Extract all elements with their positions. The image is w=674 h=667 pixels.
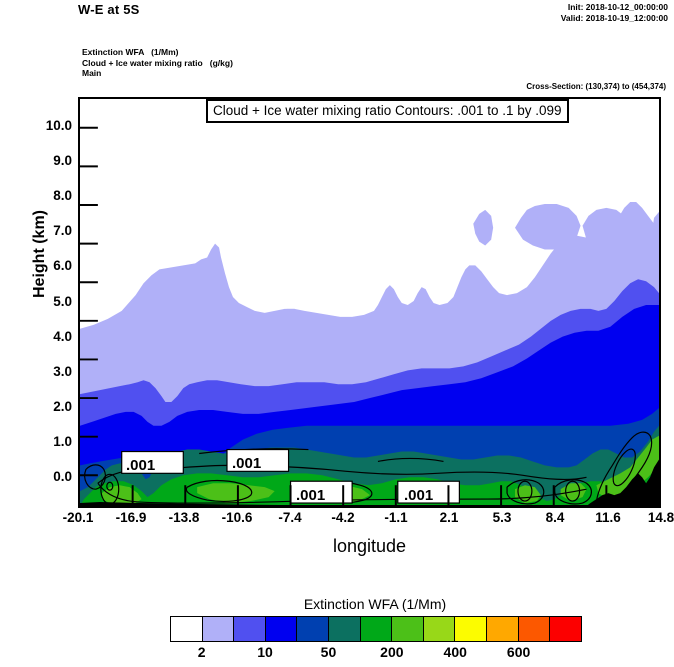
x-axis-label: longitude	[78, 536, 661, 557]
colorbar-swatch	[234, 617, 266, 641]
y-tick-label: 3.0	[10, 364, 72, 379]
contour-label: .001	[404, 487, 433, 504]
colorbar-tick-label: 2	[172, 644, 232, 660]
colorbar-swatch	[424, 617, 456, 641]
colorbar-swatch	[266, 617, 298, 641]
x-axis-ticks: -20.1-16.9-13.8-10.6-7.4-4.2-1.12.15.38.…	[78, 510, 661, 532]
y-tick-label: 2.0	[10, 399, 72, 414]
colorbar-swatch	[329, 617, 361, 641]
colorbar-tick-labels: 21050200400600	[170, 644, 582, 666]
colorbar-title: Extinction WFA (1/Mm)	[170, 596, 580, 612]
contour-label: .001	[232, 455, 261, 472]
colorbar-swatch	[519, 617, 551, 641]
cross-section-field	[80, 99, 659, 506]
colorbar	[170, 616, 582, 642]
colorbar-swatch	[550, 617, 581, 641]
colorbar-swatch	[392, 617, 424, 641]
colorbar-swatch	[487, 617, 519, 641]
colorbar-swatch	[361, 617, 393, 641]
y-tick-label: 1.0	[10, 434, 72, 449]
colorbar-tick-label: 50	[298, 644, 358, 660]
colorbar-tick-label: 600	[489, 644, 549, 660]
colorbar-swatch	[171, 617, 203, 641]
colorbar-tick-label: 10	[235, 644, 295, 660]
contour-label: .001	[126, 457, 155, 474]
x-tick-label: 14.8	[626, 510, 674, 525]
cross-section-coords: Cross-Section: (130,374) to (454,374)	[526, 82, 666, 91]
contour-title: Cloud + Ice water mixing ratio Contours:…	[206, 99, 569, 123]
y-tick-label: 9.0	[10, 153, 72, 168]
plot-area	[78, 97, 661, 508]
y-axis-label: Height (km)	[31, 174, 49, 334]
colorbar-swatch	[297, 617, 329, 641]
field-description: Extinction WFA (1/Mm) Cloud + Ice water …	[82, 47, 233, 79]
contour-label: .001	[296, 487, 325, 504]
colorbar-swatch	[203, 617, 235, 641]
valid-time: Valid: 2018-10-19_12:00:00	[561, 13, 668, 24]
y-tick-label: 10.0	[10, 118, 72, 133]
init-time: Init: 2018-10-12_00:00:00	[561, 2, 668, 13]
colorbar-tick-label: 400	[425, 644, 485, 660]
colorbar-swatch	[455, 617, 487, 641]
colorbar-tick-label: 200	[362, 644, 422, 660]
run-time-info: Init: 2018-10-12_00:00:00 Valid: 2018-10…	[561, 2, 668, 23]
y-tick-label: 0.0	[10, 469, 72, 484]
page-title: W-E at 5S	[78, 2, 140, 17]
